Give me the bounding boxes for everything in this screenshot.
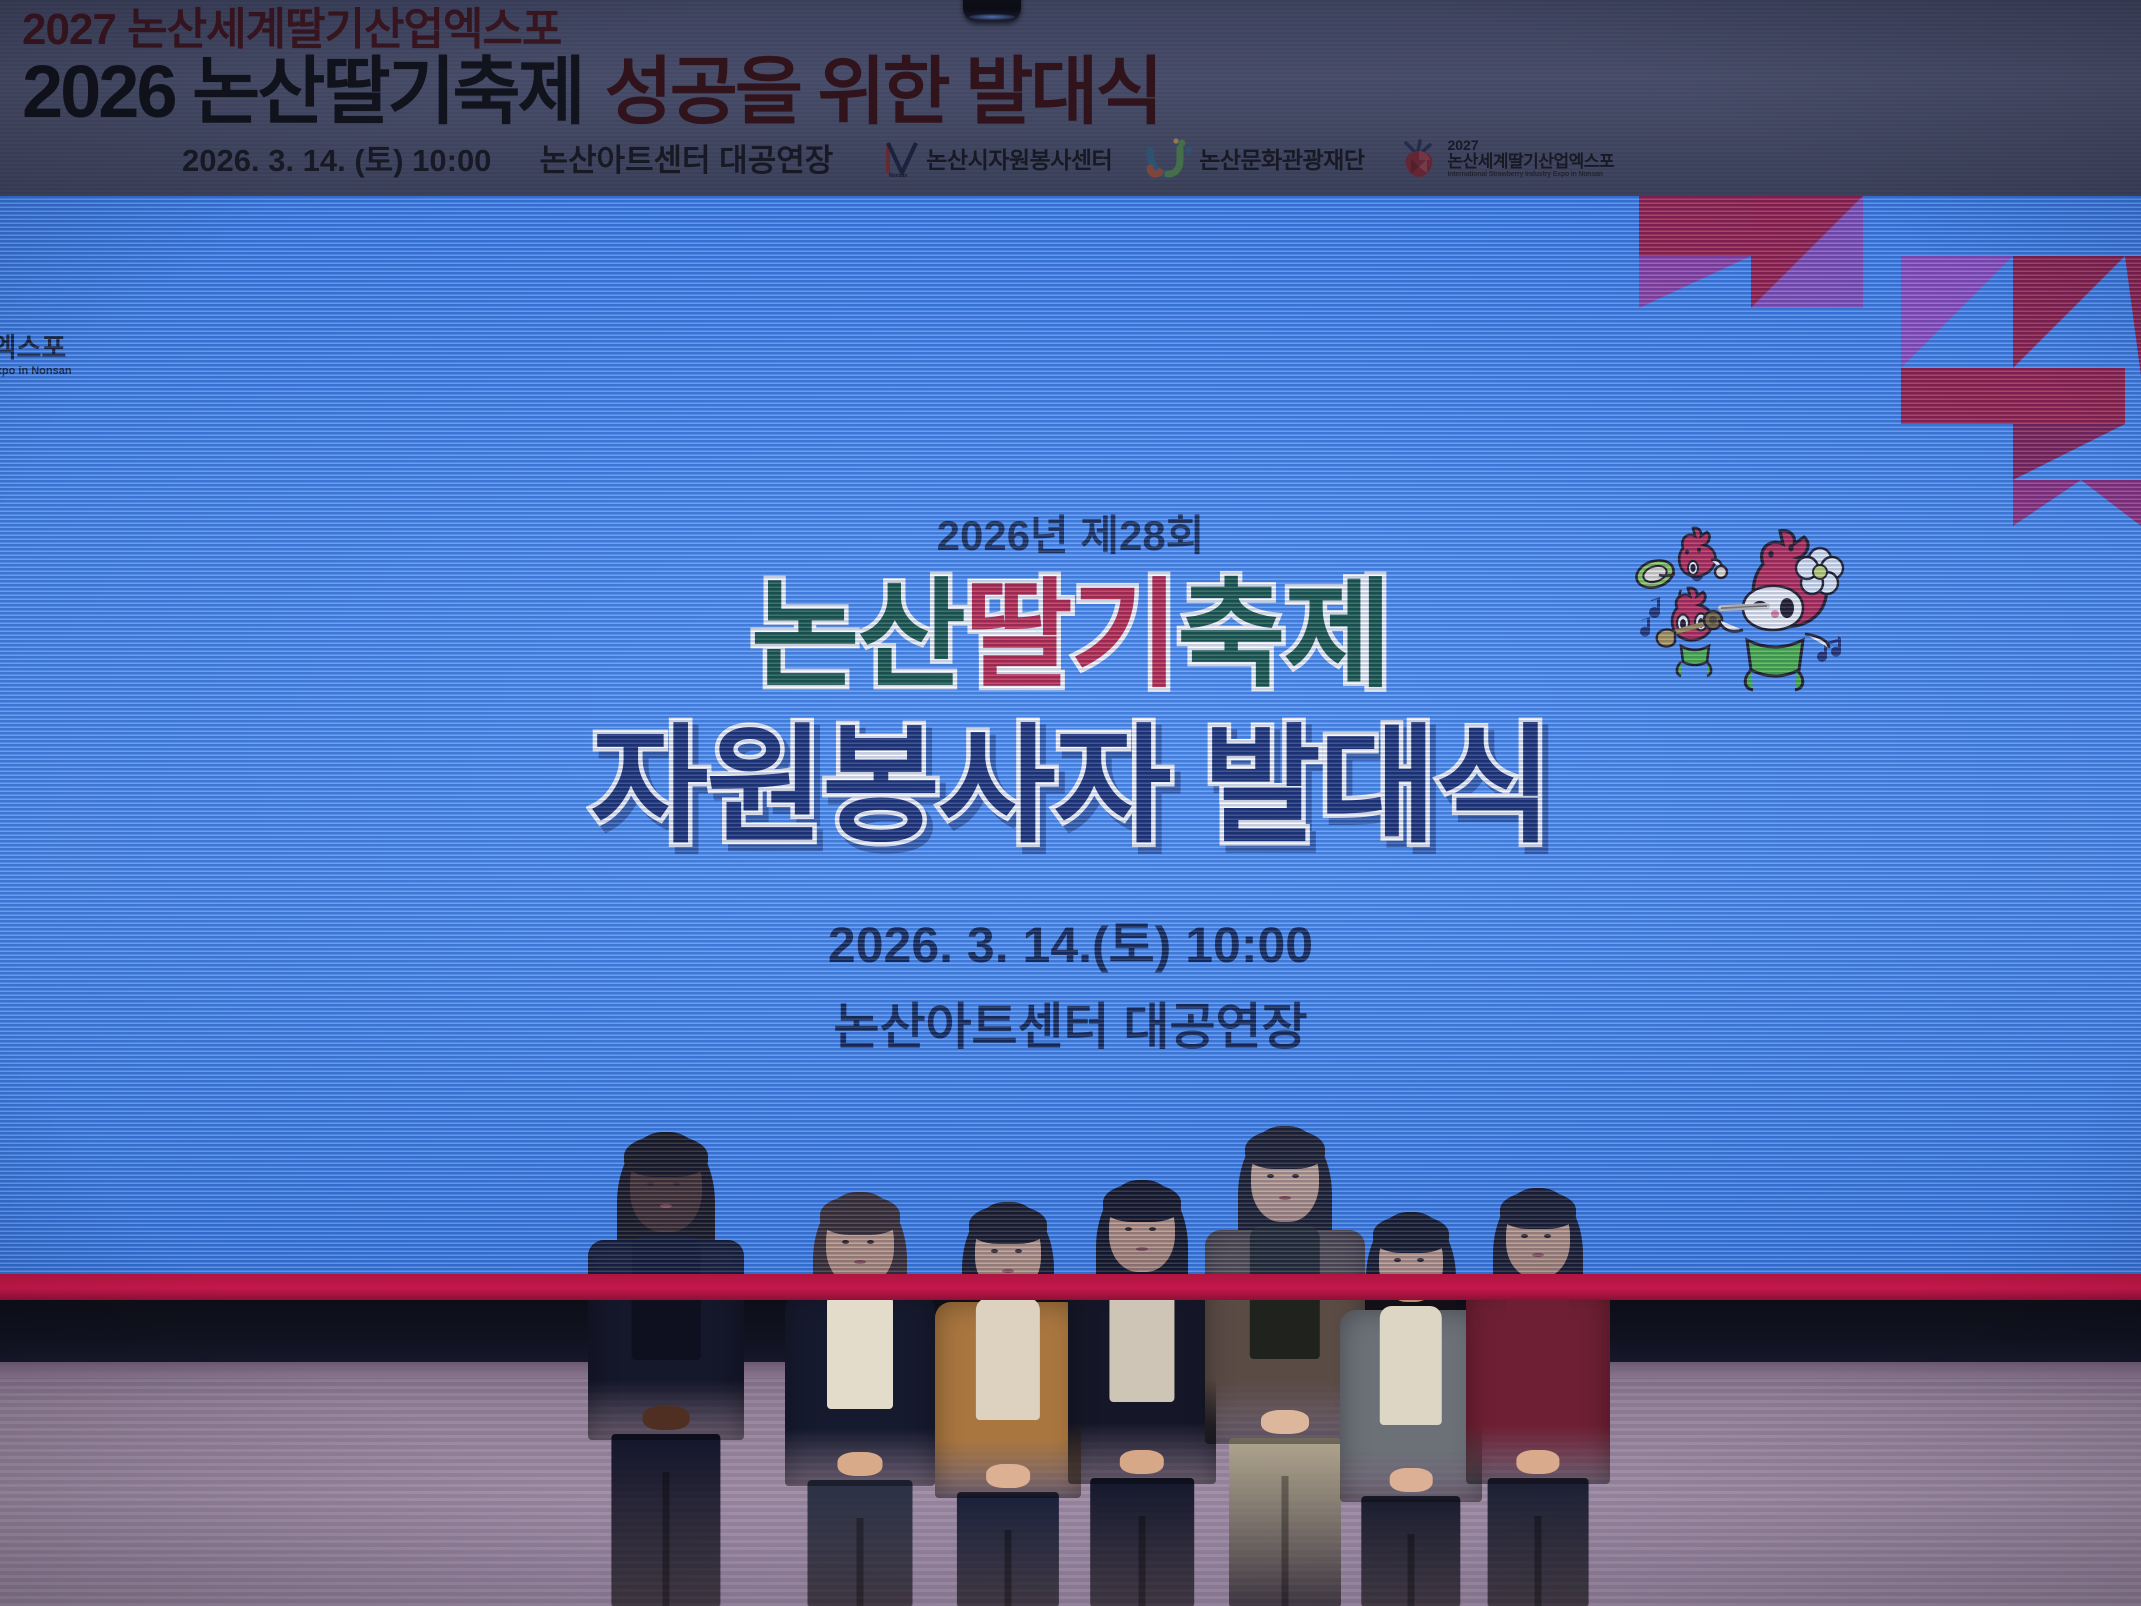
volunteer-group [0, 1140, 2141, 1606]
eye-right [1292, 1174, 1299, 1178]
eye-left [1125, 1227, 1132, 1231]
screen-bottom-red-strip [0, 1274, 2141, 1300]
eye-right [673, 1182, 680, 1186]
volunteer-2 [785, 1170, 935, 1606]
screen-venue: 논산아트센터 대공연장 [0, 987, 2141, 1059]
led-presentation-screen: 산업엑스포 Industry Expo in Nonsan [0, 196, 2141, 1300]
banner-line-2-subtitle: 성공을 위한 발대식 [605, 50, 1161, 133]
screen-pretitle: 2026년 제28회 [0, 502, 2141, 563]
eye-right [867, 1240, 874, 1244]
mouth [1002, 1269, 1014, 1273]
hair-fringe [969, 1205, 1047, 1244]
eye-left [991, 1249, 998, 1253]
inner-top [1506, 1282, 1569, 1405]
logo-nonsan-world-strawberry-expo: 2027 논산세계딸기산업엑스포 International Strawberr… [1398, 137, 1614, 179]
clasped-hands [838, 1452, 883, 1476]
volunteer-4 [1068, 1162, 1216, 1606]
banner-logo-row: Nonsan 논산시자원봉사센터 논산문화관광재단 [885, 137, 1614, 179]
screen-date: 2026. 3. 14.(토) 10:00 [0, 905, 2141, 977]
screen-subtitle: 자원봉사자 발대식 [0, 720, 2141, 853]
clasped-hands [1516, 1450, 1559, 1474]
screen-title-part-2: 딸기 [964, 570, 1177, 702]
eye-left [1394, 1258, 1401, 1262]
mouth [1279, 1196, 1291, 1200]
banner-line-2-title: 2026 논산딸기축제 [22, 50, 583, 133]
logo-label: 논산문화관광재단 [1199, 141, 1364, 175]
mouth [1532, 1253, 1544, 1257]
screen-title: 논산딸기축제 [0, 575, 2141, 698]
hair-fringe [1245, 1129, 1325, 1169]
eye-left [1267, 1174, 1274, 1178]
banner-venue: 논산아트센터 대공연장 [539, 135, 833, 180]
leg-gap [663, 1472, 670, 1606]
logo-nonsan-culture-tourism-foundation: 논산문화관광재단 [1146, 138, 1364, 178]
banner-line-3: 2026. 3. 14. (토) 10:00 논산아트센터 대공연장 Nonsa… [22, 135, 2141, 180]
hair-fringe [1373, 1215, 1449, 1253]
leg-gap [1408, 1534, 1415, 1606]
expo-logo-label-en: International Strawberry Industry Expo i… [1447, 171, 1614, 178]
leg-gap [857, 1518, 864, 1606]
expo-logo-year: 2027 [1447, 138, 1614, 153]
leg-gap [1535, 1516, 1542, 1606]
eye-right [1544, 1234, 1551, 1238]
strawberry-expo-mark-icon [1398, 137, 1440, 179]
volunteer-1 [588, 1140, 744, 1606]
eye-right [1015, 1249, 1022, 1253]
hair-fringe [1500, 1191, 1576, 1229]
screen-title-part-3: 축제 [1177, 570, 1390, 702]
mouth [1136, 1247, 1148, 1251]
eye-right [1149, 1227, 1156, 1231]
event-banner: 2027 논산세계딸기산업엑스포 2026 논산딸기축제성공을 위한 발대식 2… [0, 0, 2141, 196]
leg-gap [1139, 1516, 1146, 1606]
expo-logo-label-kr: 논산세계딸기산업엑스포 [1447, 153, 1614, 171]
banner-line-1: 2027 논산세계딸기산업엑스포 [22, 0, 2141, 52]
hair-fringe [1103, 1183, 1181, 1222]
eye-left [647, 1182, 654, 1186]
eye-right [1417, 1258, 1424, 1262]
auditorium-stage-scene: 2027 논산세계딸기산업엑스포 2026 논산딸기축제성공을 위한 발대식 2… [0, 0, 2141, 1606]
volunteer-center-mark-icon: Nonsan [885, 139, 919, 177]
clasped-hands [986, 1464, 1030, 1488]
leg-gap [1005, 1530, 1012, 1606]
clasped-hands [643, 1406, 690, 1430]
leg-gap [1282, 1476, 1289, 1606]
logo-nonsan-volunteer-center: Nonsan 논산시자원봉사센터 [885, 139, 1112, 177]
inner-top [827, 1290, 893, 1409]
eye-left [1521, 1234, 1528, 1238]
hair-fringe [820, 1195, 900, 1235]
logo-label: 논산시자원봉사센터 [926, 141, 1112, 175]
eye-left [842, 1240, 849, 1244]
clasped-hands [1120, 1450, 1164, 1474]
inner-top [976, 1298, 1040, 1420]
mouth [854, 1260, 866, 1264]
screen-title-part-1: 논산 [751, 570, 964, 702]
screen-text-block: 2026년 제28회 논산딸기축제 자원봉사자 발대식 2026. 3. 14.… [0, 196, 2141, 1059]
volunteer-7 [1466, 1166, 1610, 1606]
mouth [660, 1204, 672, 1208]
clasped-hands [1261, 1410, 1309, 1434]
volunteer-3 [935, 1174, 1081, 1606]
banner-datetime: 2026. 3. 14. (토) 10:00 [182, 135, 491, 180]
clasped-hands [1390, 1468, 1433, 1492]
hair-fringe [624, 1135, 708, 1177]
culture-foundation-mark-icon [1146, 138, 1192, 178]
inner-top [1380, 1306, 1442, 1425]
banner-line-2: 2026 논산딸기축제성공을 위한 발대식 [22, 54, 2141, 129]
svg-text:Nonsan: Nonsan [889, 173, 907, 177]
expo-logo-text-block: 2027 논산세계딸기산업엑스포 International Strawberr… [1447, 138, 1614, 178]
